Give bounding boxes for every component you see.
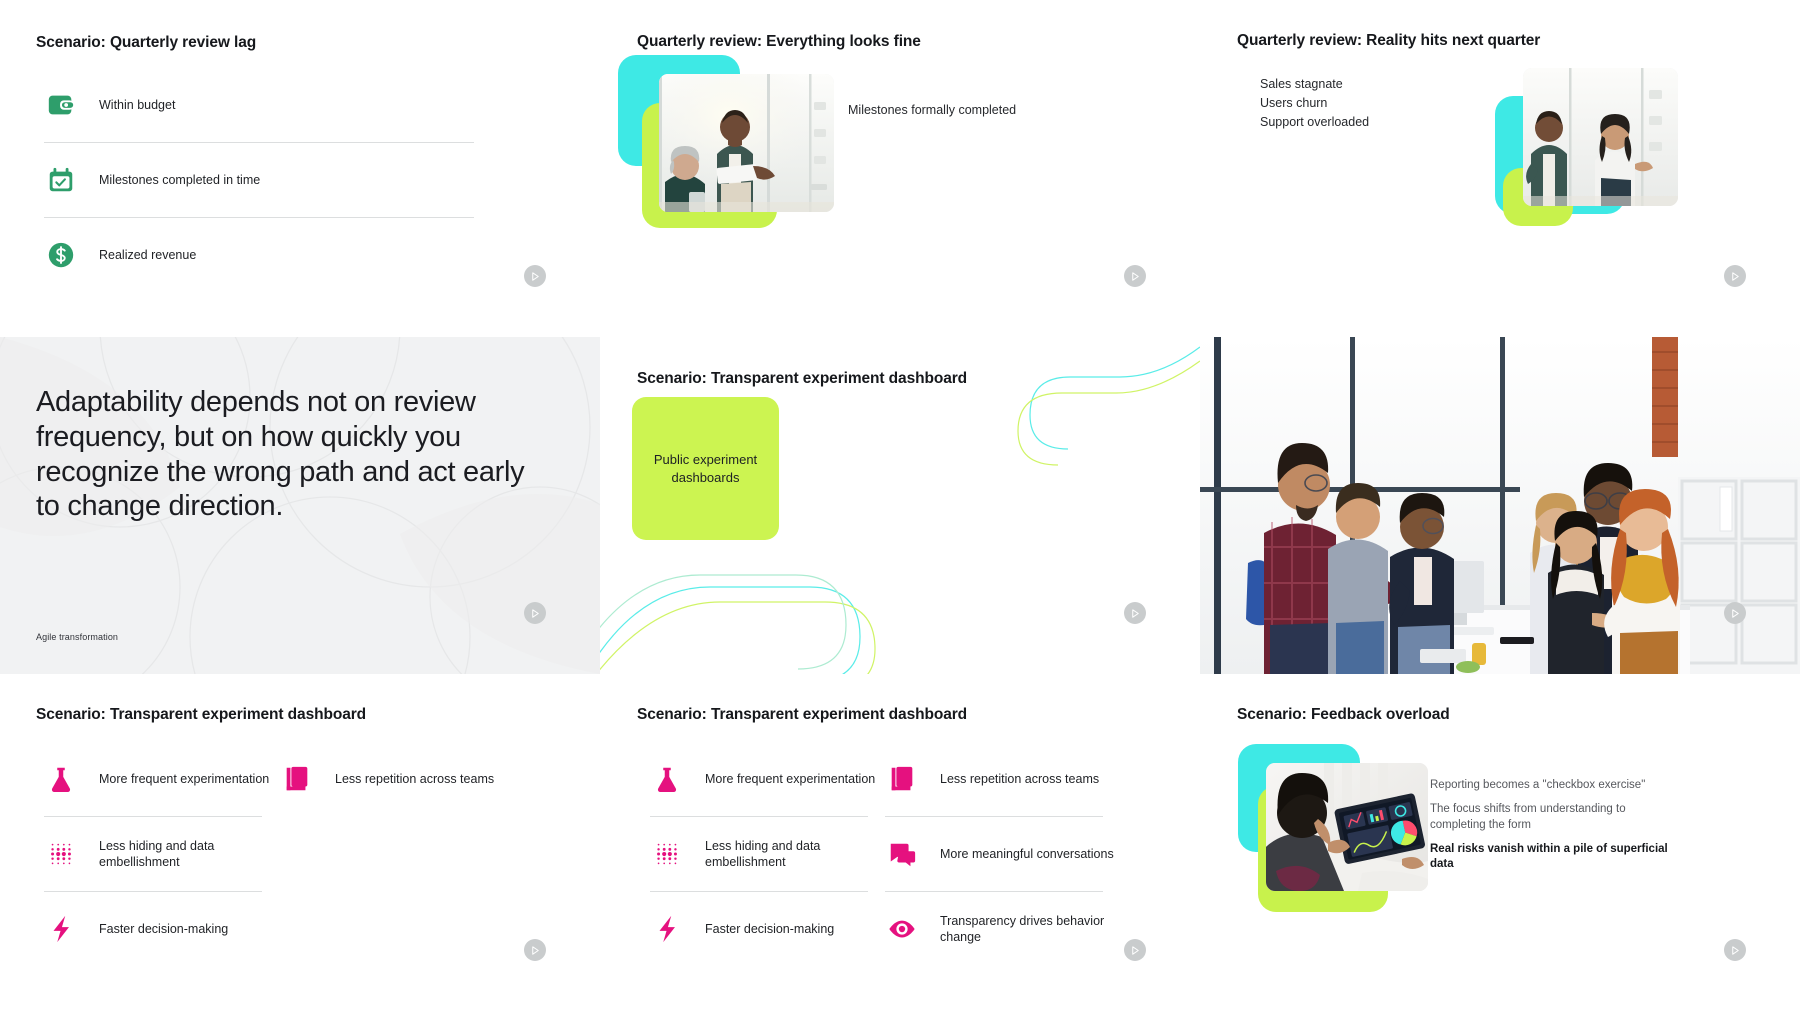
bolt-icon — [44, 912, 78, 946]
quote-text: Adaptability depends not on review frequ… — [36, 385, 528, 524]
slide-transparent-dashboard-card[interactable]: Scenario: Transparent experiment dashboa… — [600, 337, 1200, 674]
flask-icon — [44, 762, 78, 796]
feature-label: Less hiding and data embellishment — [705, 838, 895, 870]
milestones-note: Milestones formally completed — [848, 103, 1078, 117]
photo-composition — [618, 55, 878, 235]
play-icon[interactable] — [524, 939, 546, 961]
feature-row[interactable]: Realized revenue — [44, 218, 534, 292]
feature-row[interactable]: More frequent experimentation — [44, 742, 294, 816]
feature-row[interactable]: Less repetition across teams — [885, 742, 1135, 816]
play-icon[interactable] — [524, 265, 546, 287]
feature-list-right: Less repetition across teams — [280, 742, 530, 816]
photo-office-conversation — [1523, 68, 1678, 206]
feature-list-right: Less repetition across teams More meanin… — [885, 742, 1135, 966]
wallet-icon — [44, 88, 78, 122]
photo-office-team-discussion — [1200, 337, 1800, 674]
feature-row[interactable]: More meaningful conversations — [885, 817, 1135, 891]
feature-label: Less repetition across teams — [940, 771, 1099, 787]
slide-reality-hits-next-quarter[interactable]: Quarterly review: Reality hits next quar… — [1200, 0, 1800, 337]
stacked-books-icon — [885, 762, 919, 796]
slide-deck-grid: Scenario: Quarterly review lag Within bu… — [0, 0, 1800, 1011]
note-line: Reporting becomes a "checkbox exercise" — [1430, 778, 1680, 793]
calendar-check-icon — [44, 163, 78, 197]
slide-transparent-dashboard-a[interactable]: Scenario: Transparent experiment dashboa… — [0, 674, 600, 1011]
photo-presentation-meeting — [659, 74, 834, 212]
feature-label: More frequent experimentation — [705, 771, 875, 787]
play-icon[interactable] — [524, 602, 546, 624]
photo-composition — [1495, 60, 1765, 250]
feature-row[interactable]: Faster decision-making — [650, 892, 900, 966]
page-title: Quarterly review: Everything looks fine — [637, 33, 921, 51]
stacked-books-icon — [280, 762, 314, 796]
slide-adaptability-quote[interactable]: Adaptability depends not on review frequ… — [0, 337, 600, 674]
feature-label: Transparency drives behavior change — [940, 913, 1130, 945]
feature-row[interactable]: Transparency drives behavior change — [885, 892, 1135, 966]
card-label: Public experiment dashboards — [642, 451, 769, 486]
feature-label: More frequent experimentation — [99, 771, 269, 787]
photo-person-with-tablet-dashboard — [1266, 763, 1428, 891]
page-title: Scenario: Transparent experiment dashboa… — [36, 706, 366, 724]
play-icon[interactable] — [1124, 939, 1146, 961]
slide-quarterly-review-lag[interactable]: Scenario: Quarterly review lag Within bu… — [0, 0, 600, 337]
feature-list: Within budget Milestones completed in ti… — [44, 68, 534, 292]
feature-row[interactable]: More frequent experimentation — [650, 742, 900, 816]
feature-label: Faster decision-making — [705, 921, 834, 937]
slide-transparent-dashboard-b[interactable]: Scenario: Transparent experiment dashboa… — [600, 674, 1200, 1011]
page-title: Quarterly review: Reality hits next quar… — [1237, 32, 1540, 50]
note-line: Real risks vanish within a pile of super… — [1430, 842, 1680, 873]
feature-row[interactable]: Less hiding and data embellishment — [650, 817, 900, 891]
bolt-icon — [650, 912, 684, 946]
feature-label: Within budget — [99, 97, 175, 113]
slide-feedback-overload[interactable]: Scenario: Feedback overload — [1200, 674, 1800, 1011]
page-title: Scenario: Transparent experiment dashboa… — [637, 370, 967, 388]
dot-grid-icon — [44, 837, 78, 871]
page-title: Scenario: Feedback overload — [1237, 706, 1450, 724]
feature-row[interactable]: Less repetition across teams — [280, 742, 530, 816]
dot-grid-icon — [650, 837, 684, 871]
feature-label: Milestones completed in time — [99, 172, 260, 188]
play-icon[interactable] — [1124, 265, 1146, 287]
play-icon[interactable] — [1724, 265, 1746, 287]
list-item: Support overloaded — [1260, 113, 1369, 132]
feature-list-left: More frequent experimentation Less hidin… — [650, 742, 900, 966]
feedback-note-list: Reporting becomes a "checkbox exercise" … — [1430, 778, 1680, 881]
feature-label: Less hiding and data embellishment — [99, 838, 289, 870]
public-experiment-dashboards-card[interactable]: Public experiment dashboards — [632, 397, 779, 540]
flask-icon — [650, 762, 684, 796]
note-line: The focus shifts from understanding to c… — [1430, 802, 1680, 833]
quote-caption: Agile transformation — [36, 632, 118, 642]
feature-label: More meaningful conversations — [940, 846, 1114, 862]
slide-everything-looks-fine[interactable]: Quarterly review: Everything looks fine — [600, 0, 1200, 337]
feature-label: Faster decision-making — [99, 921, 228, 937]
page-title: Scenario: Quarterly review lag — [36, 34, 256, 52]
feature-row[interactable]: Milestones completed in time — [44, 143, 534, 217]
dollar-circle-icon — [44, 238, 78, 272]
feature-row[interactable]: Less hiding and data embellishment — [44, 817, 294, 891]
slide-team-photo[interactable] — [1200, 337, 1800, 674]
feature-list-left: More frequent experimentation Less hidin… — [44, 742, 294, 966]
feature-label: Realized revenue — [99, 247, 196, 263]
list-item: Sales stagnate — [1260, 75, 1369, 94]
eye-icon — [885, 912, 919, 946]
chat-bubbles-icon — [885, 837, 919, 871]
play-icon[interactable] — [1124, 602, 1146, 624]
list-item: Users churn — [1260, 94, 1369, 113]
bullet-list: Sales stagnate Users churn Support overl… — [1260, 75, 1369, 132]
feature-row[interactable]: Within budget — [44, 68, 534, 142]
play-icon[interactable] — [1724, 939, 1746, 961]
page-title: Scenario: Transparent experiment dashboa… — [637, 706, 967, 724]
feature-label: Less repetition across teams — [335, 771, 494, 787]
feature-row[interactable]: Faster decision-making — [44, 892, 294, 966]
play-icon[interactable] — [1724, 602, 1746, 624]
